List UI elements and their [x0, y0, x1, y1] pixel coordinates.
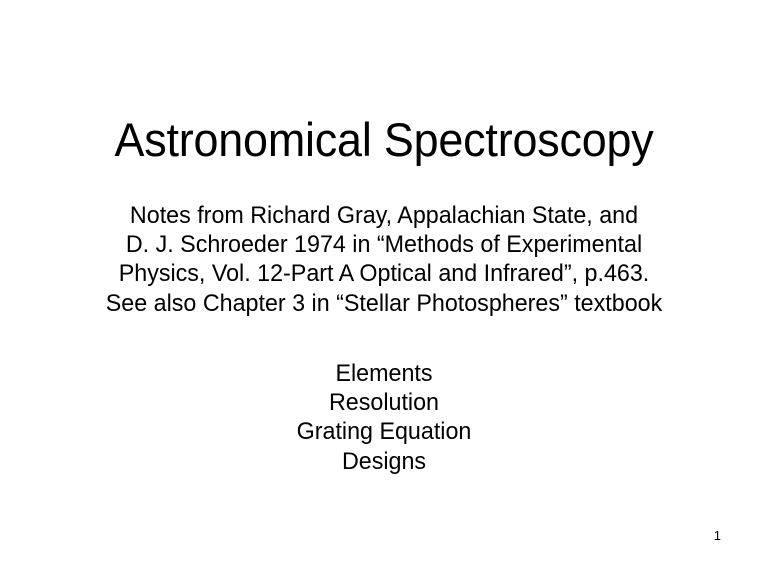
subtitle-line-2: D. J. Schroeder 1974 in “Methods of Expe… — [12, 230, 757, 259]
subtitle-line-1: Notes from Richard Gray, Appalachian Sta… — [12, 201, 757, 230]
slide-outline-list: Elements Resolution Grating Equation Des… — [12, 359, 757, 476]
subtitle-line-3: Physics, Vol. 12-Part A Optical and Infr… — [12, 259, 757, 288]
slide-subtitle: Notes from Richard Gray, Appalachian Sta… — [12, 201, 757, 318]
outline-item-designs: Designs — [12, 447, 757, 476]
slide-title: Astronomical Spectroscopy — [17, 112, 750, 168]
presentation-slide: Astronomical Spectroscopy Notes from Ric… — [0, 0, 768, 576]
subtitle-line-4: See also Chapter 3 in “Stellar Photosphe… — [12, 289, 757, 318]
outline-item-grating-equation: Grating Equation — [12, 417, 757, 446]
outline-item-elements: Elements — [12, 359, 757, 388]
outline-item-resolution: Resolution — [12, 388, 757, 417]
slide-number: 1 — [714, 528, 721, 544]
